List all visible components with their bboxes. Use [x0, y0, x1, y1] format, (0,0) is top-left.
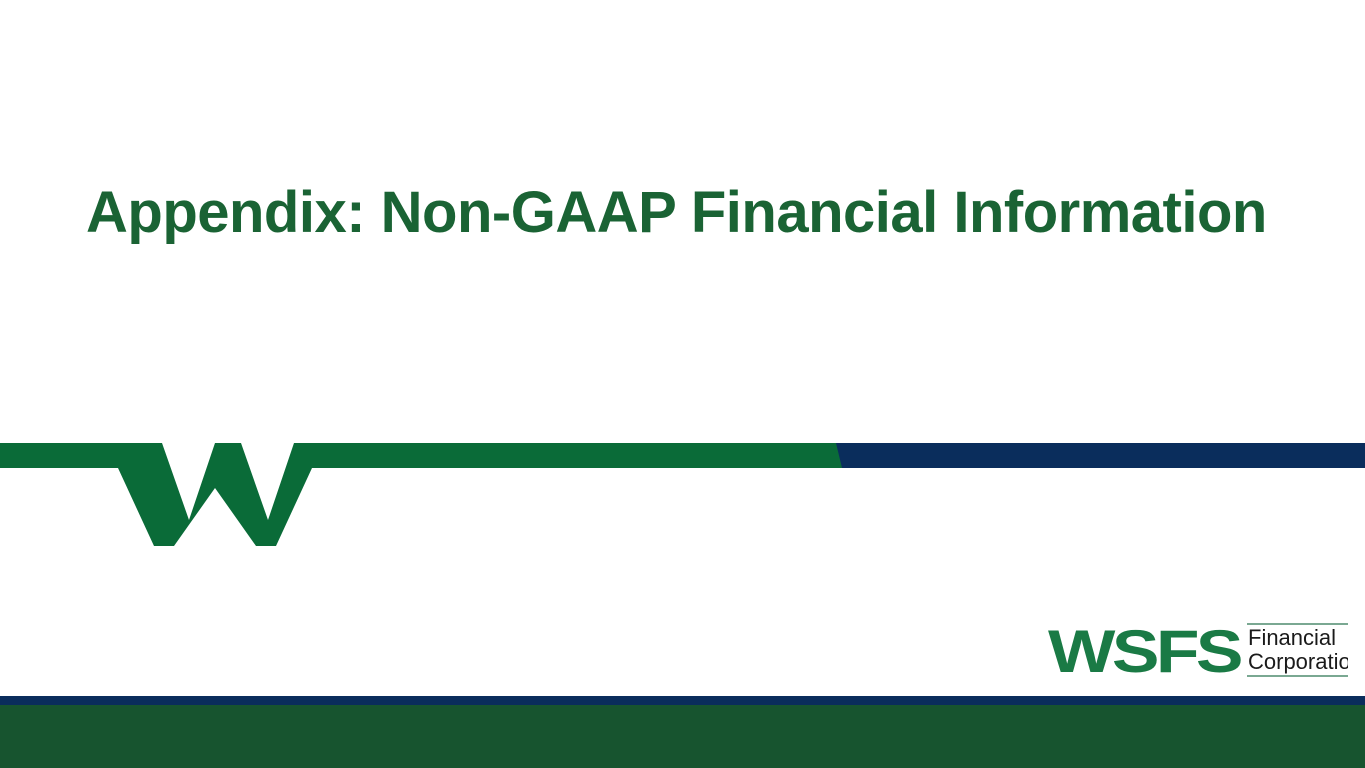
logo-line1: Financial — [1248, 625, 1336, 650]
footer-green-bar — [0, 705, 1365, 768]
page-title: Appendix: Non-GAAP Financial Information — [86, 181, 1326, 246]
accent-band — [0, 440, 1365, 552]
wsfs-wordmark: WSFS — [1048, 618, 1241, 682]
accent-band-graphic — [0, 440, 1365, 552]
footer-navy-bar — [0, 696, 1365, 705]
wsfs-logo-graphic: WSFS Financial Corporation — [1048, 616, 1348, 682]
wsfs-w-mark — [0, 443, 842, 546]
wsfs-logo: WSFS Financial Corporation — [1048, 616, 1348, 682]
presentation-slide: Appendix: Non-GAAP Financial Information… — [0, 0, 1365, 768]
logo-line2: Corporation — [1248, 649, 1348, 674]
accent-band-navy-segment — [833, 443, 1365, 468]
